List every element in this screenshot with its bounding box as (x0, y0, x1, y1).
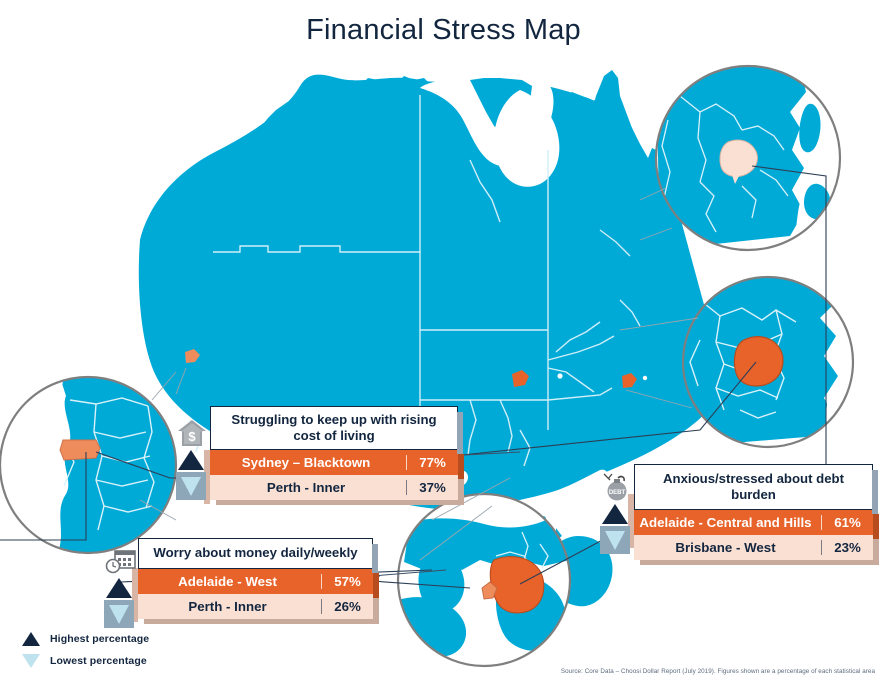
callout-bottom-shadow (144, 619, 379, 624)
brisbane-inset (656, 66, 840, 250)
callout-worry-money[interactable]: Worry about money daily/weekly Adelaide … (138, 538, 373, 619)
callout-heading: Anxious/stressed about debt burden (634, 464, 873, 510)
callout-row-lowest[interactable]: Perth - Inner 37% (210, 475, 458, 500)
markers-cost-of-living: $ (176, 418, 210, 496)
lowest-area-value: 26% (321, 599, 373, 614)
callout-heading: Worry about money daily/weekly (138, 538, 373, 569)
lowest-triangle-icon (600, 526, 630, 550)
highest-area-label: Adelaide - West (138, 574, 321, 589)
legend-label-highest: Highest percentage (50, 633, 149, 645)
highest-triangle-icon (600, 502, 630, 526)
financial-stress-map-page: Financial Stress Map (0, 0, 887, 689)
lowest-triangle-icon (104, 600, 134, 624)
markers-debt-burden: DEBT (600, 472, 634, 550)
callout-debt-burden[interactable]: Anxious/stressed about debt burden Adela… (634, 464, 873, 560)
triangle-up-icon (18, 631, 44, 647)
legend-item-lowest: Lowest percentage (18, 650, 149, 672)
highest-triangle-icon (104, 576, 134, 600)
highest-area-value: 61% (821, 515, 873, 530)
svg-text:$: $ (188, 429, 196, 444)
legend-label-lowest: Lowest percentage (50, 655, 147, 667)
legend-item-highest: Highest percentage (18, 628, 149, 650)
house-dollar-icon: $ (176, 418, 208, 448)
callout-heading: Struggling to keep up with rising cost o… (210, 406, 458, 450)
callout-row-highest[interactable]: Adelaide - Central and Hills 61% (634, 510, 873, 535)
lowest-area-value: 23% (821, 540, 873, 555)
callout-cost-of-living[interactable]: Struggling to keep up with rising cost o… (210, 406, 458, 500)
callout-row-lowest[interactable]: Perth - Inner 26% (138, 594, 373, 619)
highest-area-label: Sydney – Blacktown (210, 455, 406, 470)
calendar-clock-icon (104, 546, 136, 576)
highest-area-value: 77% (406, 455, 458, 470)
debt-bomb-icon: DEBT (600, 472, 632, 502)
callout-bottom-shadow (216, 500, 464, 505)
lowest-area-label: Perth - Inner (138, 599, 321, 614)
source-note: Source: Core Data – Choosi Dollar Report… (561, 668, 875, 675)
lowest-area-value: 37% (406, 480, 458, 495)
highest-area-label: Adelaide - Central and Hills (634, 515, 821, 530)
callout-row-highest[interactable]: Adelaide - West 57% (138, 569, 373, 594)
markers-worry-money (104, 546, 138, 624)
highest-area-value: 57% (321, 574, 373, 589)
lowest-triangle-icon (176, 472, 206, 496)
perth-inset (0, 377, 176, 553)
sydney-inset (683, 277, 853, 447)
highest-triangle-icon (176, 448, 206, 472)
lowest-area-label: Perth - Inner (210, 480, 406, 495)
lowest-area-label: Brisbane - West (634, 540, 821, 555)
legend: Highest percentage Lowest percentage (18, 628, 149, 672)
adelaide-inset (397, 494, 570, 666)
callout-row-highest[interactable]: Sydney – Blacktown 77% (210, 450, 458, 475)
callout-row-lowest[interactable]: Brisbane - West 23% (634, 535, 873, 560)
svg-text:DEBT: DEBT (609, 490, 626, 496)
callout-bottom-shadow (640, 560, 879, 565)
triangle-down-icon (18, 653, 44, 669)
